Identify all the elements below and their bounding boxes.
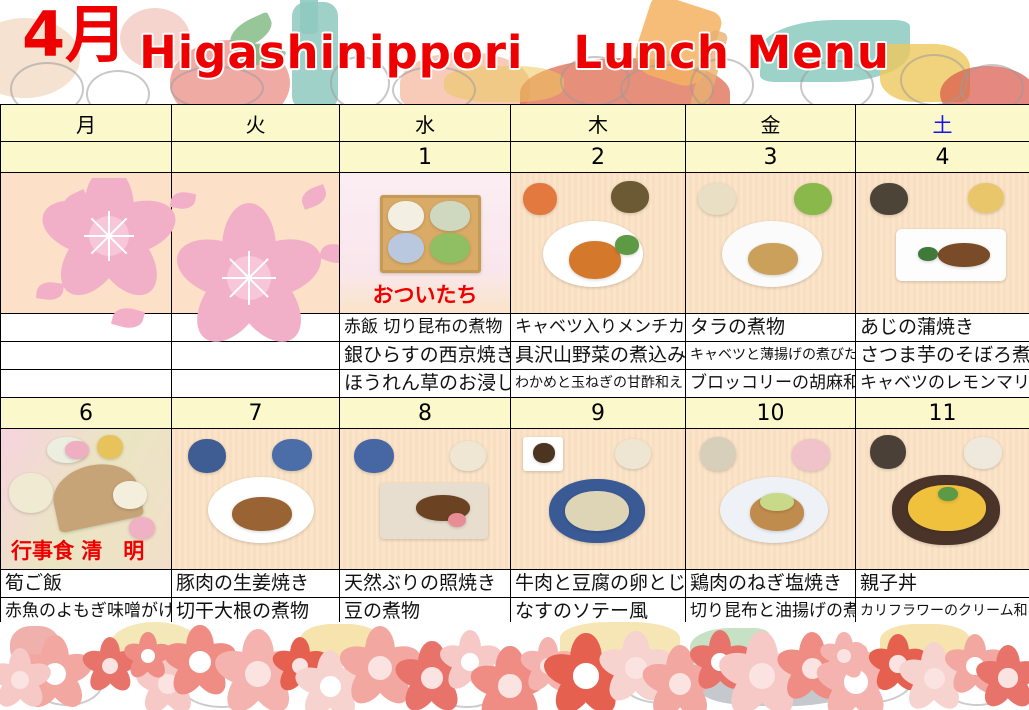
menu-item-cell: キャベツ入りメンチカツ <box>511 314 686 342</box>
menu-item-text: 豚肉の生姜焼き <box>172 570 339 597</box>
food-item <box>698 183 736 215</box>
weekday-header-3: 木 <box>511 105 686 142</box>
menu-item-cell: 具沢山野菜の煮込み <box>511 342 686 370</box>
empty-menu-cell <box>172 342 340 370</box>
meal-photo-cell <box>172 429 340 570</box>
special-day-label: おついたち <box>340 279 510 309</box>
banner-food-illustration <box>0 0 1029 104</box>
date-cell: 3 <box>686 142 856 173</box>
food-item <box>615 235 639 255</box>
menu-item-cell: さつま芋のそぼろ煮 <box>856 342 1029 370</box>
meal-photo <box>856 173 1029 313</box>
food-item <box>65 441 89 459</box>
food-item <box>918 247 938 261</box>
empty-menu-cell <box>1 370 172 398</box>
menu-item-cell: 銀ひらすの西京焼き <box>340 342 511 370</box>
menu-item-text: キャベツのレモンマリネ <box>856 370 1029 397</box>
food-item <box>760 493 794 511</box>
menu-item-text: カリフラワーのクリーム和え <box>856 598 1029 625</box>
food-item <box>388 233 424 263</box>
food-item <box>448 513 466 527</box>
food-item <box>968 183 1004 213</box>
weekday-header-4: 金 <box>686 105 856 142</box>
food-item <box>97 435 123 459</box>
food-item <box>748 243 798 275</box>
photo-row: おついたち <box>1 173 1029 314</box>
menu-item-text: ブロッコリーの胡麻和え <box>686 370 855 397</box>
food-item <box>870 435 906 469</box>
food-item <box>792 439 830 471</box>
meal-photo <box>686 429 855 569</box>
menu-item-cell: 鶏肉のねぎ塩焼き <box>686 570 856 598</box>
date-cell: 10 <box>686 398 856 429</box>
food-item <box>565 491 629 531</box>
menu-item-text: 天然ぶりの照焼き <box>340 570 510 597</box>
food-item <box>964 437 1002 469</box>
header-banner: Higashinippori Lunch Menu 4月 <box>0 0 1029 104</box>
menu-item-cell: わかめと玉ねぎの甘酢和え <box>511 370 686 398</box>
food-item <box>9 473 53 513</box>
menu-item-cell: 天然ぶりの照焼き <box>340 570 511 598</box>
meal-photo <box>686 173 855 313</box>
menu-item-cell: ブロッコリーの胡麻和え <box>686 370 856 398</box>
menu-item-text: 切り昆布と油揚げの煮物 <box>686 598 855 625</box>
menu-item-text: 切干大根の煮物 <box>172 598 339 625</box>
food-item <box>450 441 486 471</box>
date-cell: 8 <box>340 398 511 429</box>
menu-line-row: 赤飯 切り昆布の煮物キャベツ入りメンチカツタラの煮物あじの蒲焼き <box>1 314 1029 342</box>
menu-item-cell: タラの煮物 <box>686 314 856 342</box>
date-cell <box>1 142 172 173</box>
menu-item-text: わかめと玉ねぎの甘酢和え <box>511 370 685 397</box>
photo-row: 行事食 清 明 <box>1 429 1029 570</box>
meal-photo-cell <box>856 429 1029 570</box>
date-number-row: 67891011 <box>1 398 1029 429</box>
meal-photo <box>856 429 1029 569</box>
weekday-header-5: 土 <box>856 105 1029 142</box>
food-item <box>615 439 651 469</box>
menu-item-cell: 牛肉と豆腐の卵とじ <box>511 570 686 598</box>
date-cell: 11 <box>856 398 1029 429</box>
menu-item-cell: キャベツと薄揚げの煮びたし <box>686 342 856 370</box>
meal-photo-cell <box>686 429 856 570</box>
food-item <box>569 241 621 279</box>
menu-item-cell: 筍ご飯 <box>1 570 172 598</box>
meal-photo-cell: 行事食 清 明 <box>1 429 172 570</box>
food-item <box>938 487 958 501</box>
meal-photo <box>511 173 685 313</box>
lunch-menu-page: Higashinippori Lunch Menu 4月 月火水木金土1234お… <box>0 0 1029 710</box>
menu-item-text: タラの煮物 <box>686 314 855 341</box>
month-badge: 4月 <box>22 4 127 66</box>
menu-item-cell: 親子丼 <box>856 570 1029 598</box>
meal-photo <box>1 173 171 313</box>
meal-photo <box>511 429 685 569</box>
menu-item-text: なすのソテー風 <box>511 598 685 625</box>
meal-photo-cell <box>686 173 856 314</box>
date-cell: 7 <box>172 398 340 429</box>
meal-photo-cell <box>856 173 1029 314</box>
menu-item-text: 親子丼 <box>856 570 1029 597</box>
menu-item-text: 牛肉と豆腐の卵とじ <box>511 570 685 597</box>
menu-item-text: ほうれん草のお浸し <box>340 370 510 397</box>
menu-calendar: 月火水木金土1234おついたち赤飯 切り昆布の煮物キャベツ入りメンチカツタラの煮… <box>0 104 1029 654</box>
meal-photo-cell <box>340 429 511 570</box>
date-number-row: 1234 <box>1 142 1029 173</box>
meal-photo <box>172 429 339 569</box>
food-item <box>430 201 470 231</box>
date-cell: 9 <box>511 398 686 429</box>
weekday-header-0: 月 <box>1 105 172 142</box>
menu-item-text: さつま芋のそぼろ煮 <box>856 342 1029 369</box>
empty-menu-cell <box>172 370 340 398</box>
food-item <box>113 481 147 509</box>
weekday-header-2: 水 <box>340 105 511 142</box>
date-cell: 6 <box>1 398 172 429</box>
food-item <box>388 201 424 231</box>
menu-item-cell: あじの蒲焼き <box>856 314 1029 342</box>
date-cell: 4 <box>856 142 1029 173</box>
food-item <box>188 439 226 473</box>
menu-item-text: キャベツ入りメンチカツ <box>511 314 685 341</box>
weekday-header-1: 火 <box>172 105 340 142</box>
menu-item-cell: ほうれん草のお浸し <box>340 370 511 398</box>
empty-menu-cell <box>172 314 340 342</box>
empty-day-cell <box>172 173 340 314</box>
menu-item-cell: 豚肉の生姜焼き <box>172 570 340 598</box>
meal-photo <box>172 173 339 313</box>
food-item <box>938 243 990 267</box>
food-item <box>794 183 832 215</box>
empty-menu-cell <box>1 342 172 370</box>
menu-item-text: キャベツと薄揚げの煮びたし <box>686 342 855 369</box>
meal-photo-cell <box>511 173 686 314</box>
menu-item-text: 赤魚のよもぎ味噌がけ <box>1 598 171 625</box>
food-item <box>272 439 312 471</box>
menu-line-row: 銀ひらすの西京焼き具沢山野菜の煮込みキャベツと薄揚げの煮びたしさつま芋のそぼろ煮 <box>1 342 1029 370</box>
food-item <box>232 497 292 531</box>
food-item <box>611 181 649 213</box>
empty-day-cell <box>1 173 172 314</box>
food-item <box>354 439 394 473</box>
date-cell: 1 <box>340 142 511 173</box>
empty-menu-cell <box>1 314 172 342</box>
menu-item-cell: 赤飯 切り昆布の煮物 <box>340 314 511 342</box>
menu-item-text: 具沢山野菜の煮込み <box>511 342 685 369</box>
menu-item-text: 銀ひらすの西京焼き <box>340 342 510 369</box>
menu-line-row: 筍ご飯豚肉の生姜焼き天然ぶりの照焼き牛肉と豆腐の卵とじ鶏肉のねぎ塩焼き親子丼 <box>1 570 1029 598</box>
special-day-label: 行事食 清 明 <box>1 535 171 565</box>
food-item <box>700 437 736 471</box>
menu-item-text: あじの蒲焼き <box>856 314 1029 341</box>
food-item <box>533 443 555 463</box>
food-item <box>430 233 470 263</box>
meal-photo-cell <box>511 429 686 570</box>
footer-sakura-band <box>0 622 1029 710</box>
meal-photo <box>340 429 510 569</box>
meal-photo-cell: おついたち <box>340 173 511 314</box>
menu-line-row: ほうれん草のお浸しわかめと玉ねぎの甘酢和えブロッコリーの胡麻和えキャベツのレモン… <box>1 370 1029 398</box>
menu-item-text: 豆の煮物 <box>340 598 510 625</box>
menu-item-text: 鶏肉のねぎ塩焼き <box>686 570 855 597</box>
food-item <box>870 183 908 215</box>
date-cell <box>172 142 340 173</box>
menu-item-text: 赤飯 切り昆布の煮物 <box>340 314 510 341</box>
weekday-header-row: 月火水木金土 <box>1 105 1029 142</box>
food-item <box>523 183 557 215</box>
date-cell: 2 <box>511 142 686 173</box>
menu-item-text: 筍ご飯 <box>1 570 171 597</box>
menu-item-cell: キャベツのレモンマリネ <box>856 370 1029 398</box>
